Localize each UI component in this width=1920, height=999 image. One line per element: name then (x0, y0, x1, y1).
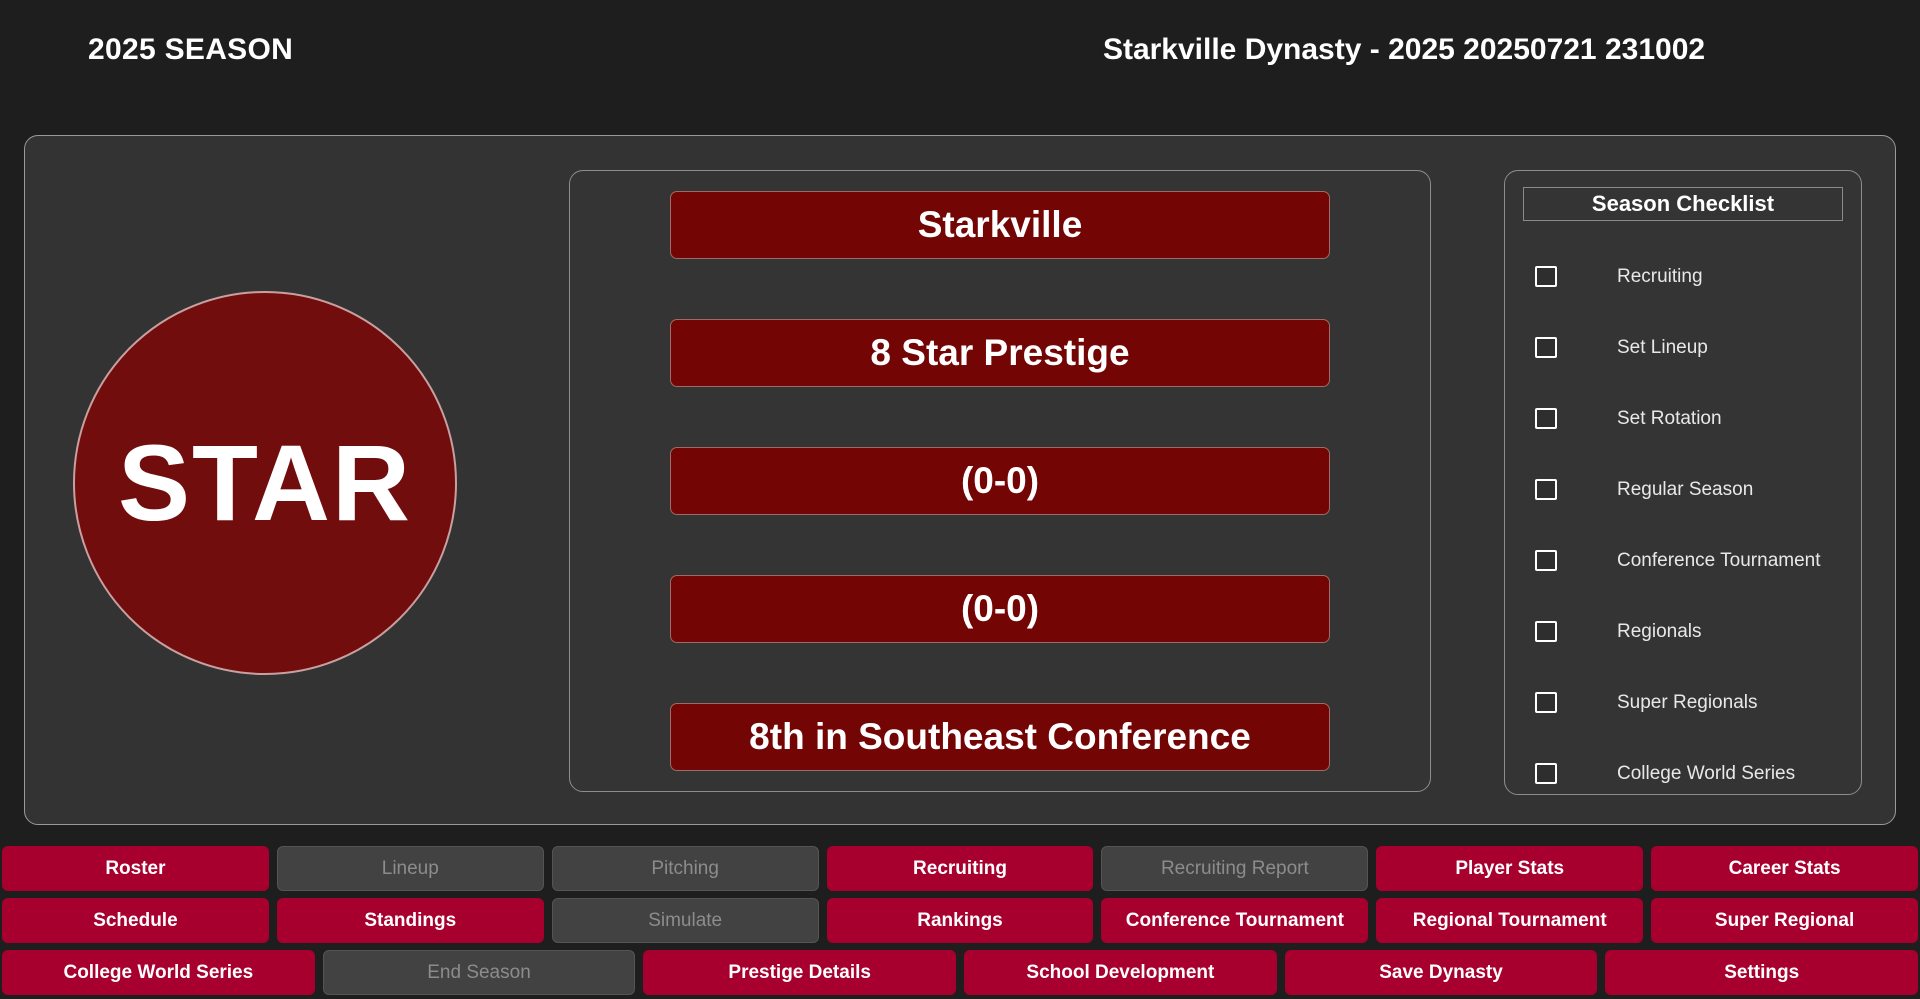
recruiting-report-button[interactable]: Recruiting Report (1101, 846, 1368, 891)
info-card-conference-standing: 8th in Southeast Conference (670, 703, 1330, 771)
checkbox-icon[interactable] (1535, 621, 1557, 642)
team-logo-container: STAR (73, 291, 457, 675)
button-row-1: Roster Lineup Pitching Recruiting Recrui… (0, 846, 1920, 891)
settings-button[interactable]: Settings (1605, 950, 1918, 995)
checklist-item-label: Regionals (1617, 621, 1702, 643)
checklist-item-label: Conference Tournament (1617, 550, 1821, 572)
checkbox-icon[interactable] (1535, 479, 1557, 500)
checklist-item-set-lineup[interactable]: Set Lineup (1521, 312, 1845, 383)
checkbox-icon[interactable] (1535, 763, 1557, 784)
recruiting-button[interactable]: Recruiting (827, 846, 1094, 891)
season-checklist-title: Season Checklist (1523, 187, 1843, 221)
team-info-panel: Starkville 8 Star Prestige (0-0) (0-0) 8… (569, 170, 1431, 792)
checkbox-icon[interactable] (1535, 550, 1557, 571)
schedule-button[interactable]: Schedule (2, 898, 269, 943)
player-stats-button[interactable]: Player Stats (1376, 846, 1643, 891)
checklist-item-recruiting[interactable]: Recruiting (1521, 241, 1845, 312)
season-checklist-items: Recruiting Set Lineup Set Rotation Regul… (1521, 241, 1845, 809)
super-regional-button[interactable]: Super Regional (1651, 898, 1918, 943)
conference-tournament-button[interactable]: Conference Tournament (1101, 898, 1368, 943)
checklist-item-regionals[interactable]: Regionals (1521, 596, 1845, 667)
checklist-item-label: Recruiting (1617, 266, 1703, 288)
checkbox-icon[interactable] (1535, 408, 1557, 429)
checklist-item-label: Set Rotation (1617, 408, 1722, 430)
lineup-button[interactable]: Lineup (277, 846, 544, 891)
team-logo-abbreviation: STAR (118, 429, 412, 537)
info-card-team-name: Starkville (670, 191, 1330, 259)
info-card-prestige: 8 Star Prestige (670, 319, 1330, 387)
info-card-conference-record: (0-0) (670, 575, 1330, 643)
main-content-panel: STAR Starkville 8 Star Prestige (0-0) (0… (24, 135, 1896, 825)
checklist-item-college-world-series[interactable]: College World Series (1521, 738, 1845, 809)
checkbox-icon[interactable] (1535, 692, 1557, 713)
checklist-item-label: College World Series (1617, 763, 1795, 785)
navigation-button-bar: Roster Lineup Pitching Recruiting Recrui… (0, 846, 1920, 999)
pitching-button[interactable]: Pitching (552, 846, 819, 891)
checklist-item-label: Super Regionals (1617, 692, 1757, 714)
end-season-button[interactable]: End Season (323, 950, 636, 995)
save-dynasty-button[interactable]: Save Dynasty (1285, 950, 1598, 995)
simulate-button[interactable]: Simulate (552, 898, 819, 943)
checklist-item-regular-season[interactable]: Regular Season (1521, 454, 1845, 525)
checklist-item-super-regionals[interactable]: Super Regionals (1521, 667, 1845, 738)
prestige-details-button[interactable]: Prestige Details (643, 950, 956, 995)
dynasty-title: Starkville Dynasty - 2025 20250721 23100… (1103, 33, 1705, 67)
rankings-button[interactable]: Rankings (827, 898, 1094, 943)
checklist-item-conference-tournament[interactable]: Conference Tournament (1521, 525, 1845, 596)
checklist-item-label: Set Lineup (1617, 337, 1708, 359)
info-card-overall-record: (0-0) (670, 447, 1330, 515)
button-row-3: College World Series End Season Prestige… (0, 950, 1920, 995)
checklist-item-set-rotation[interactable]: Set Rotation (1521, 383, 1845, 454)
school-development-button[interactable]: School Development (964, 950, 1277, 995)
roster-button[interactable]: Roster (2, 846, 269, 891)
checklist-item-label: Regular Season (1617, 479, 1753, 501)
season-label: 2025 SEASON (88, 33, 293, 67)
career-stats-button[interactable]: Career Stats (1651, 846, 1918, 891)
checkbox-icon[interactable] (1535, 337, 1557, 358)
checkbox-icon[interactable] (1535, 266, 1557, 287)
college-world-series-button[interactable]: College World Series (2, 950, 315, 995)
button-row-2: Schedule Standings Simulate Rankings Con… (0, 898, 1920, 943)
app-header: 2025 SEASON Starkville Dynasty - 2025 20… (0, 0, 1920, 110)
standings-button[interactable]: Standings (277, 898, 544, 943)
regional-tournament-button[interactable]: Regional Tournament (1376, 898, 1643, 943)
season-checklist-panel: Season Checklist Recruiting Set Lineup S… (1504, 170, 1862, 795)
team-logo: STAR (73, 291, 457, 675)
